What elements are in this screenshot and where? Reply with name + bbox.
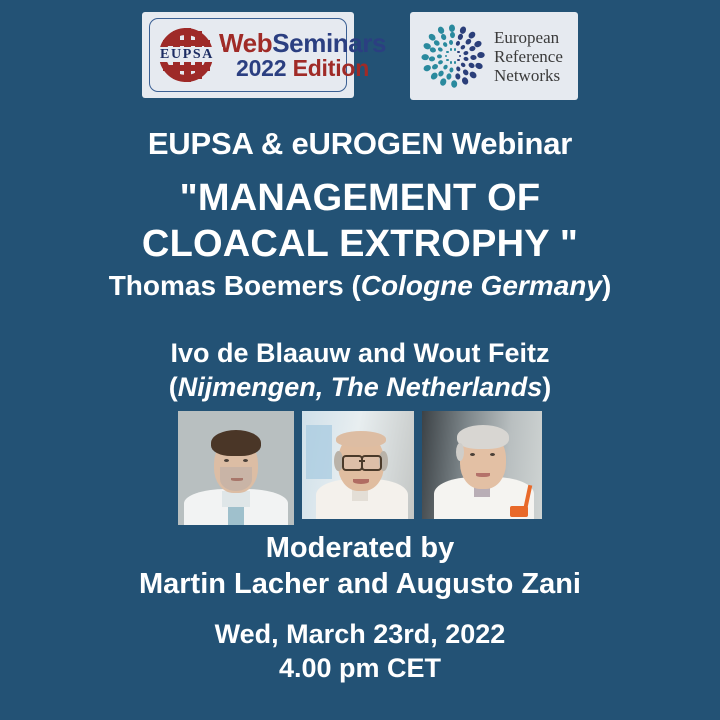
webinar-topic-title: "MANAGEMENT OF CLOACAL EXTROPHY " <box>0 175 720 267</box>
ern-logo-text: European Reference Networks <box>494 28 563 85</box>
speaker-photo-3 <box>422 411 542 519</box>
eupsa-emblem-icon: EUPSA <box>155 24 217 86</box>
speaker-secondary-location: Nijmengen, The Netherlands <box>178 372 543 402</box>
webseminars-text: WebSeminars 2022 Edition <box>219 30 386 81</box>
speaker-primary-paren-close: ) <box>602 270 611 301</box>
moderated-by-label: Moderated by <box>0 530 720 566</box>
ern-spiral-icon <box>420 23 486 89</box>
webseminars-year-text: 2022 <box>236 55 286 81</box>
webinar-poster: EUPSA WebSeminars 2022 Edition European <box>0 0 720 720</box>
moderation-block: Moderated by Martin Lacher and Augusto Z… <box>0 530 720 602</box>
schedule-block: Wed, March 23rd, 2022 4.00 pm CET <box>0 617 720 685</box>
eupsa-wordmark: EUPSA <box>151 47 223 62</box>
eupsa-logo-frame: EUPSA WebSeminars 2022 Edition <box>149 18 347 92</box>
eupsa-webseminars-logo: EUPSA WebSeminars 2022 Edition <box>142 12 354 98</box>
webinar-heading: EUPSA & eUROGEN Webinar <box>0 126 720 162</box>
ern-line-3: Networks <box>494 66 563 85</box>
logo-row: EUPSA WebSeminars 2022 Edition European <box>0 12 720 108</box>
speaker-primary-location: Cologne Germany <box>361 270 602 301</box>
webseminars-edition-text: Edition <box>293 55 370 81</box>
speaker-primary-paren-open: ( <box>351 270 360 301</box>
speaker-secondary-names: Ivo de Blaauw and Wout Feitz <box>0 336 720 370</box>
speaker-secondary-paren-open: ( <box>169 372 178 402</box>
ern-line-1: European <box>494 28 563 47</box>
european-reference-networks-logo: European Reference Networks <box>410 12 578 100</box>
speaker-photo-row <box>178 411 542 525</box>
webseminars-web-text: Web <box>219 28 272 58</box>
topic-line-1: "MANAGEMENT OF <box>0 175 720 221</box>
ern-line-2: Reference <box>494 47 563 66</box>
speaker-photo-1 <box>178 411 294 525</box>
speaker-primary: Thomas Boemers (Cologne Germany) <box>0 270 720 302</box>
speaker-secondary: Ivo de Blaauw and Wout Feitz (Nijmengen,… <box>0 336 720 404</box>
moderator-names: Martin Lacher and Augusto Zani <box>0 566 720 602</box>
topic-line-2: CLOACAL EXTROPHY " <box>0 221 720 267</box>
speaker-photo-2 <box>302 411 414 519</box>
speaker-secondary-paren-close: ) <box>542 372 551 402</box>
webseminars-seminars-text: Seminars <box>272 28 386 58</box>
event-time: 4.00 pm CET <box>0 651 720 685</box>
event-date: Wed, March 23rd, 2022 <box>0 617 720 651</box>
speaker-primary-name: Thomas Boemers <box>109 270 352 301</box>
eyeglasses <box>342 455 382 469</box>
